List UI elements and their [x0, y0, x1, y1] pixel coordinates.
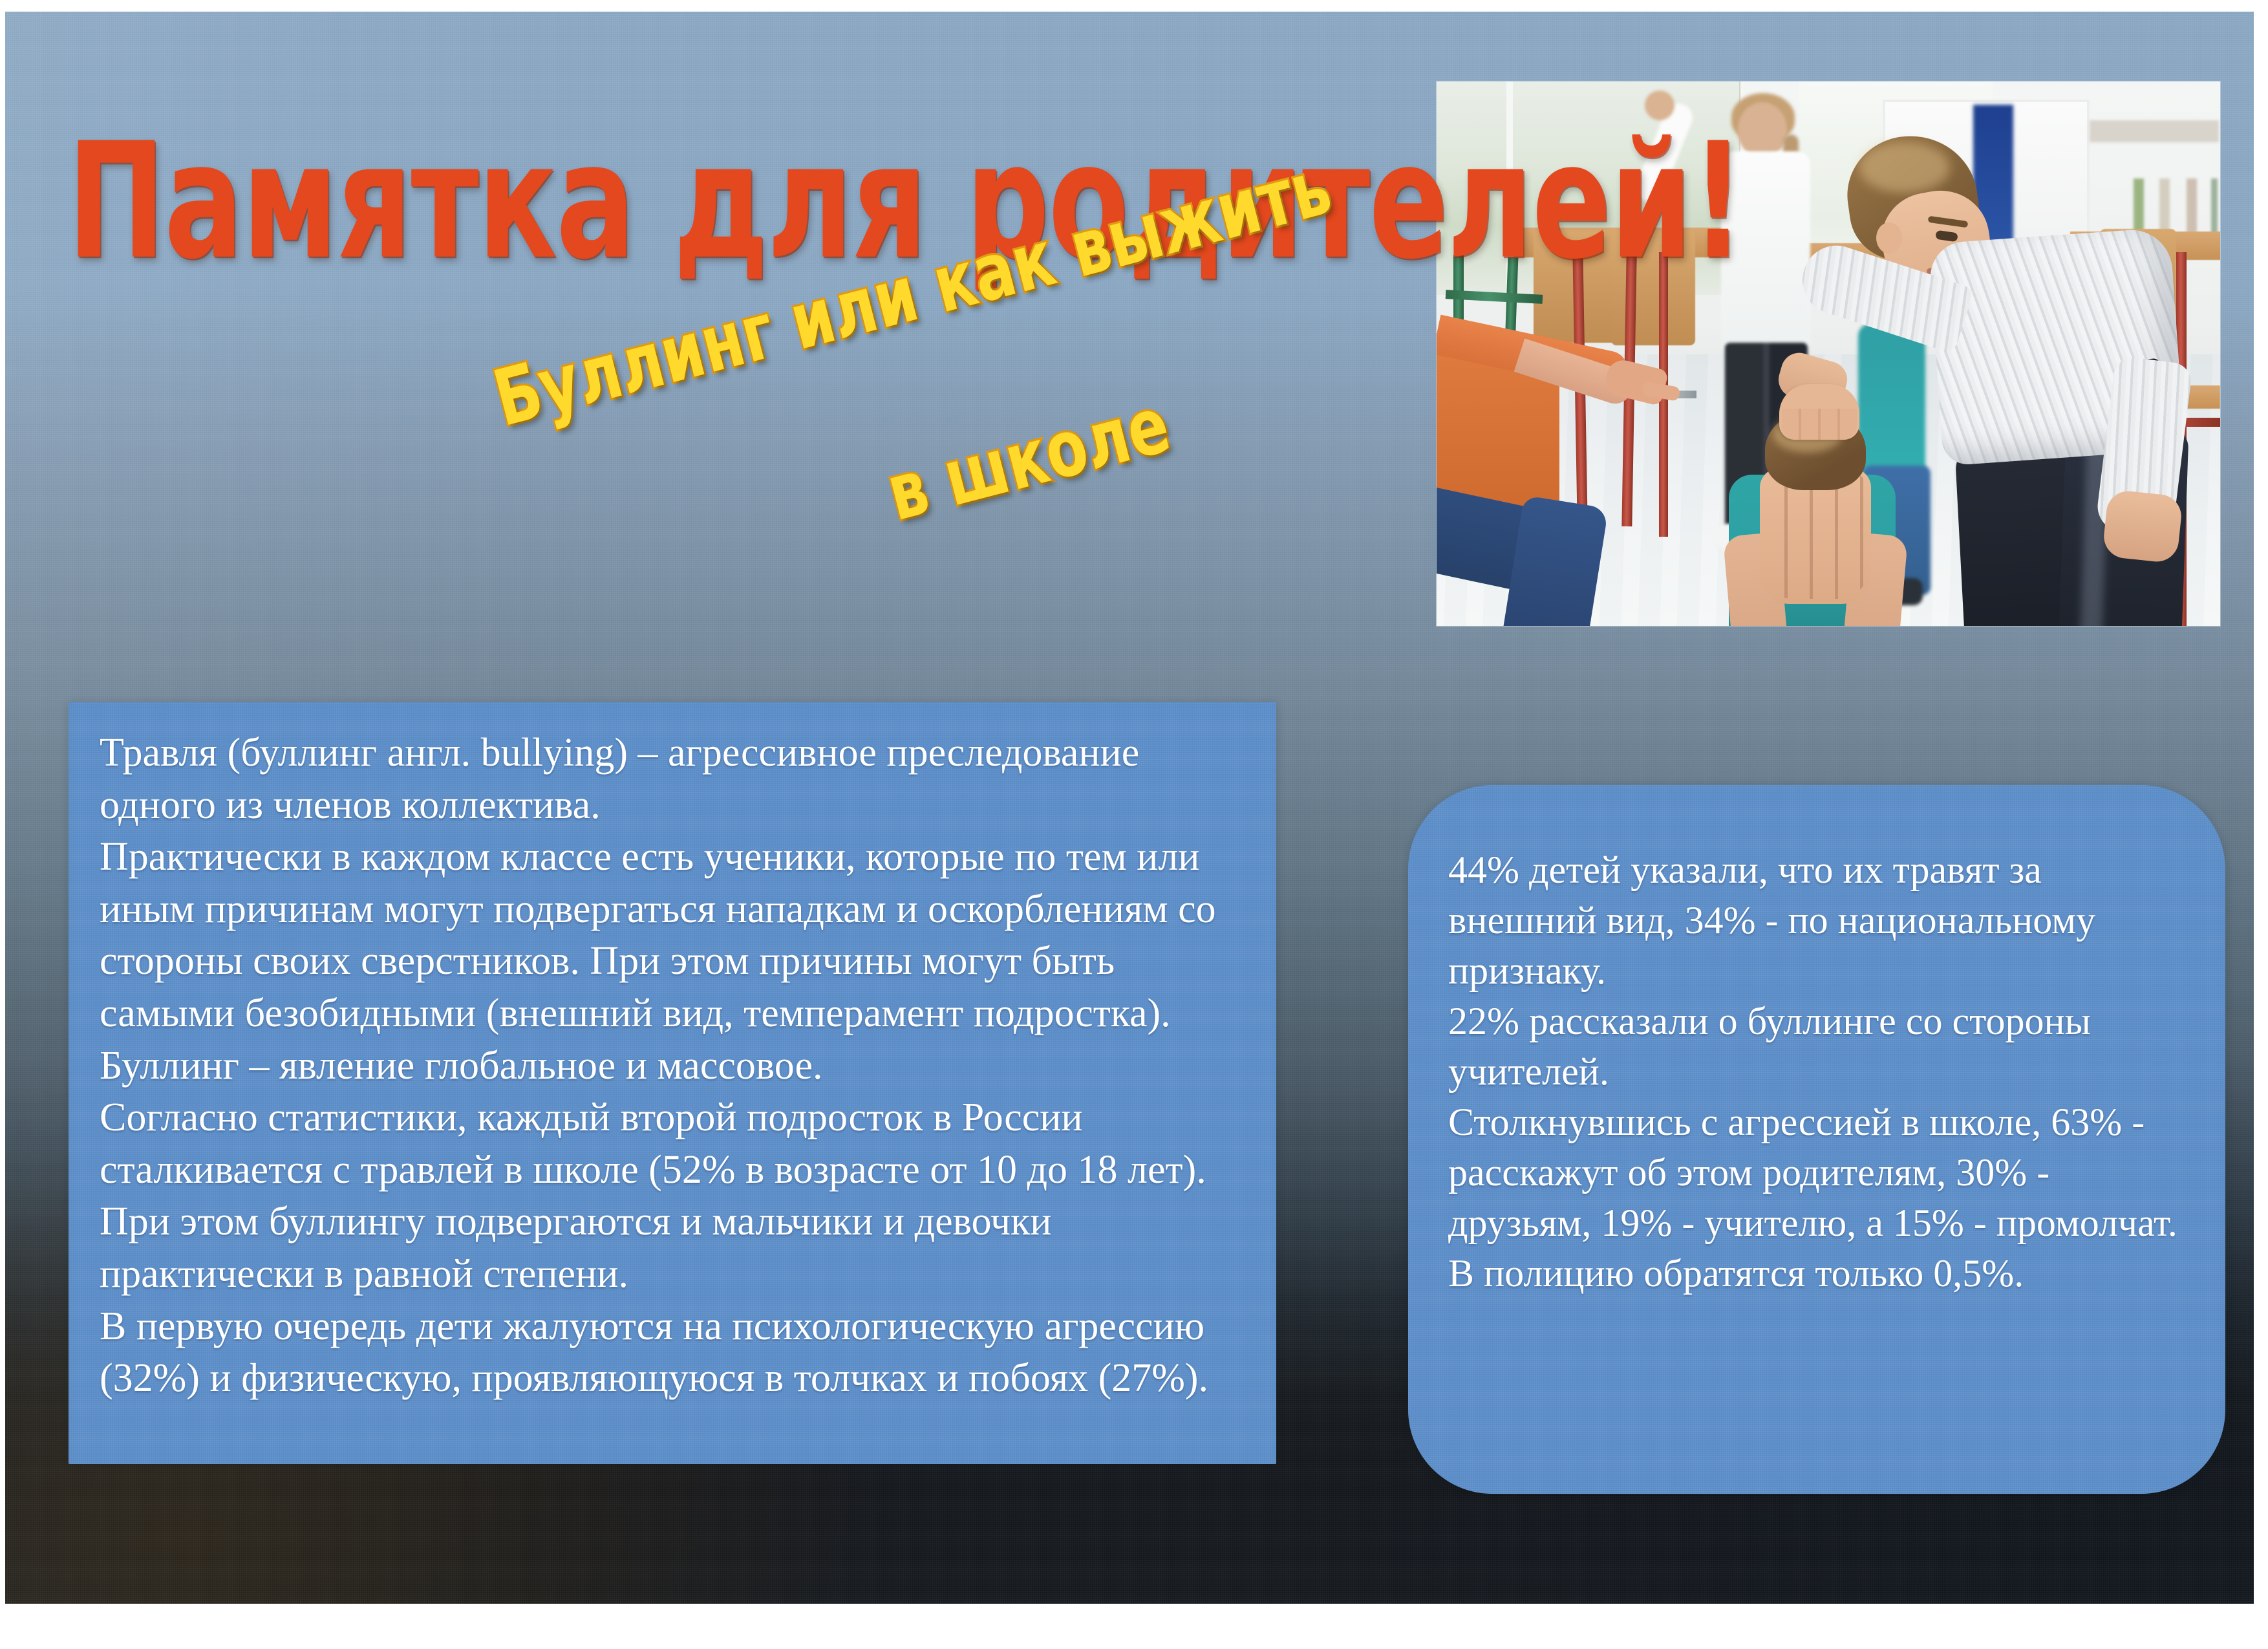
photo-bully-boy-fist — [2102, 489, 2183, 564]
statistics-text-panel: 44% детей указали, что их травят за внеш… — [1408, 785, 2225, 1494]
statistics-paragraph: Столкнувшись с агрессией в школе, 63% - … — [1448, 1097, 2190, 1248]
photo-bully-boy-hair-highlight — [1859, 142, 1950, 193]
definition-paragraph: Травля (буллинг англ. bullying) – агресс… — [100, 727, 1248, 831]
poster-sheet: Памятка для родителей! Буллинг или как в… — [5, 12, 2254, 1604]
statistics-paragraph: В полицию обратятся только 0,5%. — [1448, 1248, 2190, 1299]
statistics-paragraph: 22% рассказали о буллинге со стороны учи… — [1448, 996, 2190, 1097]
definition-text-body: Травля (буллинг англ. bullying) – агресс… — [69, 702, 1276, 1405]
definition-paragraph: Буллинг – явление глобальное и массовое. — [100, 1040, 1248, 1092]
photo-shelf — [2090, 120, 2219, 142]
statistics-text-body: 44% детей указали, что их травят за внеш… — [1408, 785, 2225, 1299]
photo-background-girl-head — [1738, 102, 1787, 156]
definition-text-panel: Травля (буллинг англ. bullying) – агресс… — [69, 702, 1276, 1464]
definition-paragraph: Практически в каждом классе есть ученики… — [100, 831, 1248, 1039]
poster-subtitle: Буллинг или как выжить в школе — [497, 290, 1415, 503]
definition-paragraph: Согласно статистики, каждый второй подро… — [100, 1092, 1248, 1300]
statistics-paragraph: 44% детей указали, что их травят за внеш… — [1448, 845, 2190, 996]
definition-paragraph: В первую очередь дети жалуются на психол… — [100, 1300, 1248, 1405]
photo-hand-on-victim-head-fingers — [1782, 409, 1857, 440]
photo-bully-boy-ear — [1876, 222, 1902, 253]
poster-subtitle-line-2: в школе — [880, 386, 1177, 533]
photo-victim-boy-fingers — [1762, 472, 1868, 599]
